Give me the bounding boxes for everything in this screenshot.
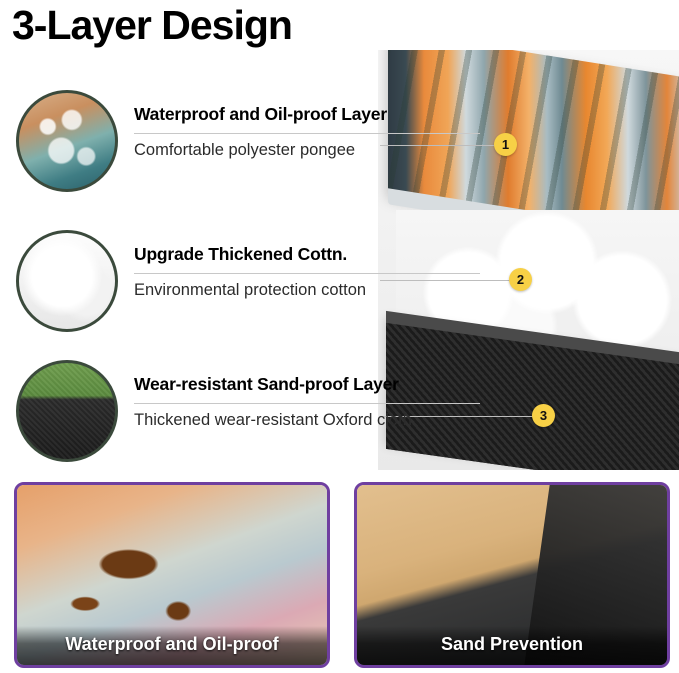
sand-prevention-demo-card: Sand Prevention [354, 482, 670, 668]
layer-badge-1: 1 [494, 133, 517, 156]
feature-2-text: Upgrade Thickened Cottn. Environmental p… [134, 244, 480, 300]
divider [134, 403, 480, 404]
feature-1-subtitle: Comfortable polyester pongee [134, 141, 480, 160]
divider [134, 273, 480, 274]
feature-1-text: Waterproof and Oil-proof Layer Comfortab… [134, 104, 480, 160]
feature-row-3: Wear-resistant Sand-proof Layer Thickene… [10, 358, 480, 466]
feature-3-text: Wear-resistant Sand-proof Layer Thickene… [134, 374, 480, 430]
feature-2-title: Upgrade Thickened Cottn. [134, 244, 480, 265]
divider [134, 133, 480, 134]
feature-1-title: Waterproof and Oil-proof Layer [134, 104, 480, 125]
page-title: 3-Layer Design [12, 4, 292, 47]
grass-and-oxford-cloth-thumbnail [16, 360, 118, 462]
feature-3-title: Wear-resistant Sand-proof Layer [134, 374, 480, 395]
water-droplets-thumbnail [16, 90, 118, 192]
layer-badge-3: 3 [532, 404, 555, 427]
feature-2-subtitle: Environmental protection cotton [134, 281, 480, 300]
sand-card-caption: Sand Prevention [357, 626, 667, 665]
feature-3-subtitle: Thickened wear-resistant Oxford cloth [134, 411, 480, 430]
waterproof-demo-card: Waterproof and Oil-proof [14, 482, 330, 668]
layer-badge-2: 2 [509, 268, 532, 291]
waterproof-card-caption: Waterproof and Oil-proof [17, 626, 327, 665]
cotton-fill-thumbnail [16, 230, 118, 332]
feature-row-1: Waterproof and Oil-proof Layer Comfortab… [10, 88, 480, 196]
feature-row-2: Upgrade Thickened Cottn. Environmental p… [10, 228, 480, 336]
